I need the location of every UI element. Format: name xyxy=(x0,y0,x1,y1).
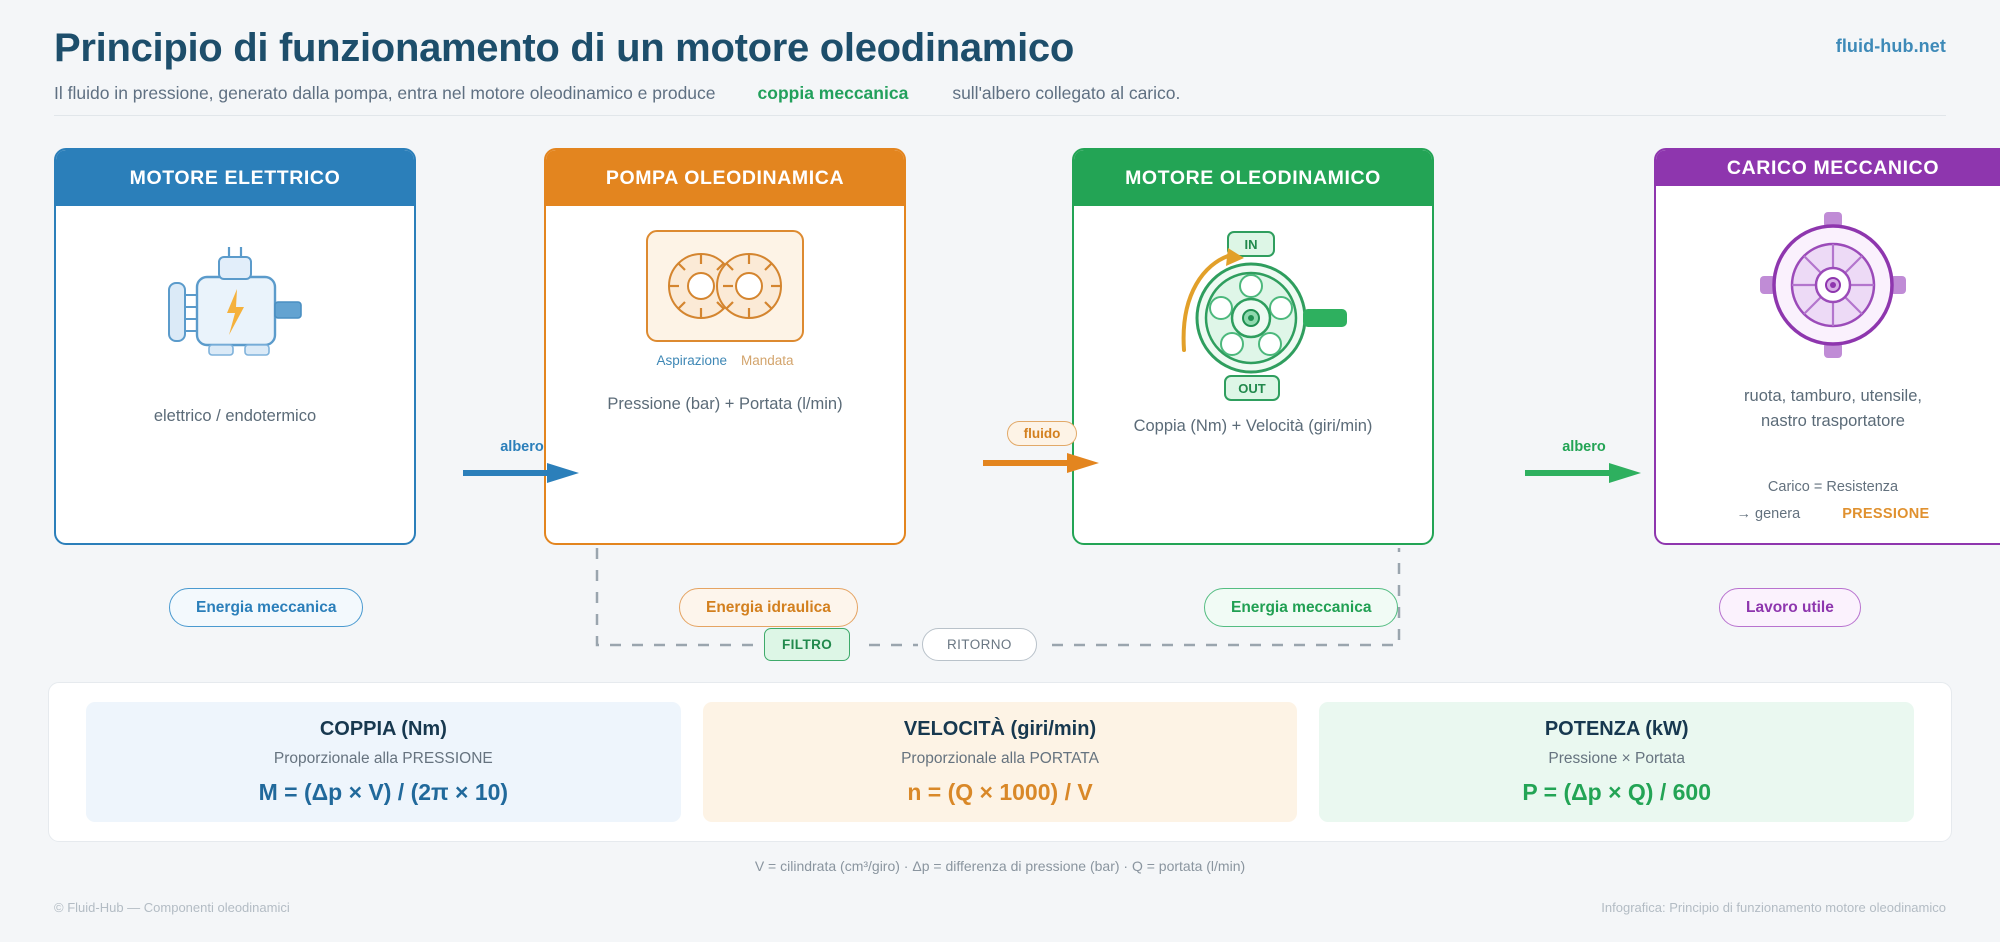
connector-fluido: fluido xyxy=(982,420,1102,474)
legend-note: V = cilindrata (cm³/giro) · Δp = differe… xyxy=(0,858,2000,874)
arrow-right-icon xyxy=(983,452,1101,474)
pump-port-labels: Aspirazione Mandata xyxy=(656,353,793,368)
formula-subtitle-coppia: Proporzionale alla PRESSIONE xyxy=(274,750,493,768)
carico-caption-line1: ruota, tamburo, utensile, xyxy=(1744,387,1922,405)
header-divider xyxy=(54,115,1946,116)
page-subtitle: Il fluido in pressione, generato dalla p… xyxy=(54,83,1946,104)
footer-right: Infografica: Principio di funzionamento … xyxy=(1601,900,1946,915)
card-carico-meccanico[interactable]: CARICO MECCANICO xyxy=(1654,148,2000,545)
formula-card-velocita: VELOCITÀ (giri/min) Proporzionale alla P… xyxy=(703,702,1298,822)
mechanical-load-wheel-icon xyxy=(1758,210,1908,360)
card-pompa-oleodinamica[interactable]: POMPA OLEODINAMICA xyxy=(544,148,906,545)
card-caption-motore-oleodinamico: Coppia (Nm) + Velocità (giri/min) xyxy=(1134,414,1373,439)
card-body-pompa: Aspirazione Mandata Pressione (bar) + Po… xyxy=(546,206,904,543)
pump-housing xyxy=(646,230,804,342)
carico-note-genera-row: → genera PRESSIONE xyxy=(1737,501,1930,529)
connector-label-fluido: fluido xyxy=(1007,421,1078,446)
formula-title-potenza: POTENZA (kW) xyxy=(1545,718,1689,741)
page-title: Principio di funzionamento di un motore … xyxy=(54,22,1946,74)
arrow-right-icon xyxy=(463,462,581,484)
formula-subtitle-potenza: Pressione × Portata xyxy=(1548,750,1685,768)
process-flow: MOTORE ELETTRICO xyxy=(54,148,1946,668)
page-header: Principio di funzionamento di un motore … xyxy=(54,0,1946,116)
node-ritorno[interactable]: RITORNO xyxy=(922,628,1037,661)
formula-card-coppia: COPPIA (Nm) Proporzionale alla PRESSIONE… xyxy=(86,702,681,822)
formula-equation-coppia: M = (Δp × V) / (2π × 10) xyxy=(259,779,509,806)
formula-title-velocita: VELOCITÀ (giri/min) xyxy=(904,718,1096,741)
card-motore-oleodinamico[interactable]: MOTORE OLEODINAMICO IN xyxy=(1072,148,1434,545)
carico-caption-line2: nastro trasportatore xyxy=(1761,412,1905,430)
card-title-pompa: POMPA OLEODINAMICA xyxy=(546,150,904,206)
connector-albero-2: albero xyxy=(1524,430,1644,484)
brand-link[interactable]: fluid-hub.net xyxy=(1836,36,1946,57)
badge-energia-idraulica[interactable]: Energia idraulica xyxy=(679,588,858,627)
card-title-motore-elettrico: MOTORE ELETTRICO xyxy=(56,150,414,206)
carico-note-line1: Carico = Resistenza xyxy=(1737,474,1930,502)
carico-note-pressione: PRESSIONE xyxy=(1842,501,1929,529)
formula-panel: COPPIA (Nm) Proporzionale alla PRESSIONE… xyxy=(48,682,1952,842)
badge-energia-meccanica-2[interactable]: Energia meccanica xyxy=(1204,588,1398,627)
subtitle-highlight: coppia meccanica xyxy=(758,83,909,104)
page-footer: © Fluid-Hub — Componenti oleodinamici In… xyxy=(54,900,1946,915)
connector-label-albero-1: albero xyxy=(500,439,544,455)
footer-left: © Fluid-Hub — Componenti oleodinamici xyxy=(54,900,290,915)
formula-title-coppia: COPPIA (Nm) xyxy=(320,718,447,741)
svg-text:OUT: OUT xyxy=(1238,381,1266,396)
card-motore-elettrico[interactable]: MOTORE ELETTRICO xyxy=(54,148,416,545)
connector-albero-1: albero xyxy=(462,430,582,484)
card-caption-motore-elettrico: elettrico / endotermico xyxy=(154,404,316,429)
arrow-right-icon xyxy=(1525,462,1643,484)
formula-subtitle-velocita: Proporzionale alla PORTATA xyxy=(901,750,1099,768)
infographic-page: Principio di funzionamento di un motore … xyxy=(0,0,2000,942)
card-title-carico: CARICO MECCANICO xyxy=(1656,150,2000,186)
card-title-motore-oleodinamico: MOTORE OLEODINAMICO xyxy=(1074,150,1432,206)
subtitle-tail: sull'albero collegato al carico. xyxy=(952,83,1180,104)
carico-note-arrow: → genera xyxy=(1737,501,1801,529)
badge-energia-meccanica-1[interactable]: Energia meccanica xyxy=(169,588,363,627)
electric-motor-icon xyxy=(145,230,325,380)
subtitle-lead: Il fluido in pressione, generato dalla p… xyxy=(54,83,716,104)
formula-card-potenza: POTENZA (kW) Pressione × Portata P = (Δp… xyxy=(1319,702,1914,822)
svg-text:IN: IN xyxy=(1245,237,1258,252)
pump-port-mandata: Mandata xyxy=(741,353,794,368)
formula-equation-velocita: n = (Q × 1000) / V xyxy=(907,779,1092,806)
formula-equation-potenza: P = (Δp × Q) / 600 xyxy=(1522,779,1711,806)
card-caption-pompa: Pressione (bar) + Portata (l/min) xyxy=(607,392,842,417)
card-body-motore-oleodinamico: IN xyxy=(1074,206,1432,543)
card-caption-carico: ruota, tamburo, utensile, nastro traspor… xyxy=(1744,384,1922,434)
gear-pump-icon: Aspirazione Mandata xyxy=(646,230,804,368)
connector-label-albero-2: albero xyxy=(1562,439,1606,455)
badge-lavoro-utile[interactable]: Lavoro utile xyxy=(1719,588,1861,627)
hydraulic-motor-icon: IN xyxy=(1148,230,1358,402)
node-filtro[interactable]: FILTRO xyxy=(764,628,850,661)
card-body-carico: ruota, tamburo, utensile, nastro traspor… xyxy=(1656,186,2000,543)
pump-port-aspirazione: Aspirazione xyxy=(656,353,727,368)
carico-note: Carico = Resistenza → genera PRESSIONE xyxy=(1737,474,1930,529)
card-body-motore-elettrico: elettrico / endotermico xyxy=(56,206,414,543)
